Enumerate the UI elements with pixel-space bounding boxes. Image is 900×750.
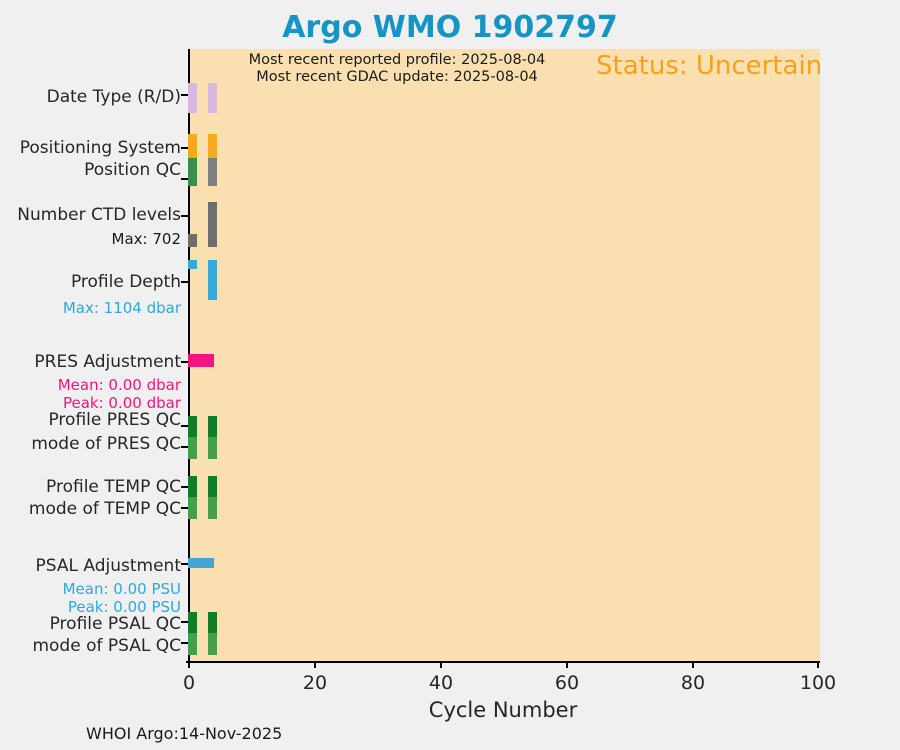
x-axis-tick-label-40: 40 [429, 672, 453, 694]
y-axis-tick-7 [181, 446, 188, 448]
bar-pres-adjustment [188, 354, 214, 367]
bar-position-qc-a [188, 158, 197, 186]
y-axis-tick-8 [181, 486, 188, 488]
bar-psal-adjustment [188, 558, 214, 568]
x-axis-tick-40 [440, 661, 442, 668]
x-axis-line [186, 661, 820, 663]
bar-mode-pres-qc-a [188, 437, 197, 459]
y-axis-tick-1 [181, 147, 188, 149]
y-axis-tick-9 [181, 507, 188, 509]
y-axis-label-mode-of-psal-qc: mode of PSAL QC [32, 636, 181, 656]
bar-positioning-system-a [188, 134, 197, 158]
x-axis-tick-80 [692, 661, 694, 668]
bar-positioning-system-b [208, 134, 217, 158]
x-axis-tick-0 [188, 661, 190, 668]
bar-mode-temp-qc-b [208, 497, 217, 519]
y-axis-tick-10 [181, 563, 188, 565]
x-axis-tick-100 [817, 661, 819, 668]
bar-profile-depth-a [188, 260, 197, 269]
bar-profile-pres-qc-a [188, 416, 197, 437]
x-axis-tick-label-0: 0 [183, 672, 195, 694]
y-axis-label-pres-adjustment: PRES Adjustment [34, 352, 181, 372]
y-axis-tick-6 [181, 425, 188, 427]
bar-profile-pres-qc-b [208, 416, 217, 437]
y-axis-label-profile-psal-qc: Profile PSAL QC [50, 614, 181, 634]
page-title: Argo WMO 1902797 [0, 10, 900, 45]
bar-profile-temp-qc-b [208, 476, 217, 497]
bar-mode-pres-qc-b [208, 437, 217, 459]
y-axis-tick-2 [181, 178, 188, 180]
y-axis-label-date-type-r-d: Date Type (R/D) [47, 87, 181, 107]
bar-mode-temp-qc-a [188, 497, 197, 519]
y-axis-label-number-ctd-levels: Number CTD levels [17, 205, 181, 225]
plot-area [188, 49, 820, 661]
y-axis-label-profile-pres-qc: Profile PRES QC [48, 410, 181, 430]
y-axis-label-psal-adjustment: PSAL Adjustment [36, 556, 181, 576]
footer-credit: WHOI Argo:14-Nov-2025 [86, 724, 282, 743]
bar-profile-psal-qc-b [208, 612, 217, 633]
y-axis-label-profile-depth: Profile Depth [71, 272, 181, 292]
y-axis-label-max-1104-dbar: Max: 1104 dbar [63, 298, 181, 318]
y-axis-label-profile-temp-qc: Profile TEMP QC [46, 477, 181, 497]
x-axis-tick-label-20: 20 [303, 672, 327, 694]
bar-position-qc-b [208, 158, 217, 186]
y-axis-tick-0 [181, 94, 188, 96]
y-axis-tick-4 [181, 281, 188, 283]
recent-dates-annotation: Most recent reported profile: 2025-08-04… [222, 52, 572, 86]
y-axis-label-position-qc: Position QC [84, 160, 181, 180]
bar-profile-depth-b [208, 260, 217, 300]
x-axis-tick-label-60: 60 [555, 672, 579, 694]
y-axis-label-mode-of-pres-qc: mode of PRES QC [31, 434, 181, 454]
x-axis-tick-20 [314, 661, 316, 668]
y-axis-tick-11 [181, 621, 188, 623]
status-badge: Status: Uncertain [596, 51, 822, 81]
x-axis-tick-60 [566, 661, 568, 668]
x-axis-title: Cycle Number [188, 698, 818, 722]
bar-date-type-a [188, 83, 197, 113]
y-axis-label-positioning-system: Positioning System [20, 138, 181, 158]
bar-ctd-levels-b [208, 202, 217, 247]
bar-profile-psal-qc-a [188, 612, 197, 633]
bar-date-type-b [208, 83, 217, 113]
y-axis-tick-12 [181, 642, 188, 644]
bar-ctd-levels-a [188, 234, 197, 247]
bar-mode-psal-qc-b [208, 633, 217, 655]
bar-mode-psal-qc-a [188, 633, 197, 655]
y-axis-label-mean-0-00-psu: Mean: 0.00 PSU [63, 579, 181, 599]
y-axis-tick-3 [181, 215, 188, 217]
bar-profile-temp-qc-a [188, 476, 197, 497]
y-axis-label-mean-0-00-dbar: Mean: 0.00 dbar [58, 375, 181, 395]
x-axis-tick-label-80: 80 [681, 672, 705, 694]
y-axis-label-mode-of-temp-qc: mode of TEMP QC [29, 499, 181, 519]
y-axis-label-max-702: Max: 702 [112, 229, 181, 249]
y-axis-tick-5 [181, 361, 188, 363]
x-axis-tick-label-100: 100 [800, 672, 836, 694]
